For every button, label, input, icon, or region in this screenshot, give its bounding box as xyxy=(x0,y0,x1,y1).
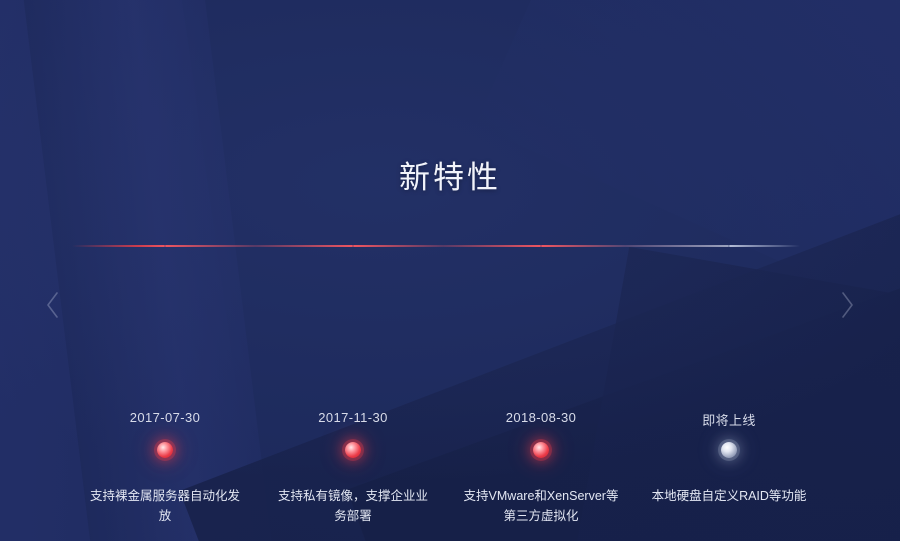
timeline-node-date: 2018-08-30 xyxy=(461,410,621,425)
timeline-node-date: 2017-11-30 xyxy=(273,410,433,425)
timeline-segment-2 xyxy=(353,245,541,247)
timeline-rail xyxy=(72,245,800,247)
timeline-segment-lead xyxy=(72,245,165,247)
timeline-node-dot[interactable] xyxy=(533,442,549,458)
timeline-node-dot[interactable] xyxy=(721,442,737,458)
timeline-segment-tail xyxy=(729,245,800,247)
timeline-node-description: 支持私有镜像，支撑企业业务部署 xyxy=(273,486,433,527)
feature-timeline-slide: 新特性 2017-07-30 支持裸金属服务器自动化发放 2017-11-30 … xyxy=(0,0,900,541)
carousel-next-button[interactable] xyxy=(834,288,860,322)
timeline-node-description: 支持裸金属服务器自动化发放 xyxy=(85,486,245,527)
chevron-right-icon xyxy=(834,288,860,322)
timeline-node-description: 支持VMware和XenServer等第三方虚拟化 xyxy=(461,486,621,527)
timeline-node-date: 2017-07-30 xyxy=(85,410,245,425)
page-title: 新特性 xyxy=(0,152,900,197)
chevron-left-icon xyxy=(40,288,66,322)
timeline-node-dot[interactable] xyxy=(345,442,361,458)
timeline-node-dot[interactable] xyxy=(157,442,173,458)
timeline-segment-3 xyxy=(541,245,729,247)
timeline: 2017-07-30 支持裸金属服务器自动化发放 2017-11-30 支持私有… xyxy=(0,205,900,355)
carousel-prev-button[interactable] xyxy=(40,288,66,322)
timeline-segment-1 xyxy=(165,245,353,247)
timeline-node-date: 即将上线 xyxy=(649,410,809,429)
timeline-node-description: 本地硬盘自定义RAID等功能 xyxy=(649,486,809,506)
